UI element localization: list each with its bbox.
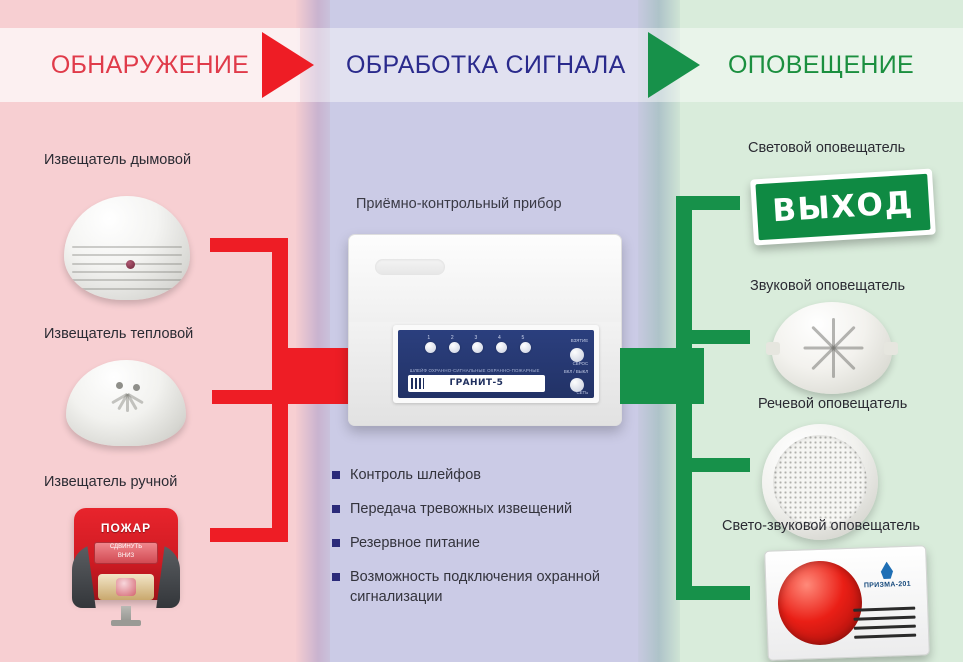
bullet-square-icon [332, 539, 340, 547]
infographic-canvas: ОБНАРУЖЕНИЕ ОБРАБОТКА СИГНАЛА ОПОВЕЩЕНИЕ… [0, 0, 963, 662]
control-panel-micro-text: ШЛЕЙФ ОХРАННО-СИГНАЛЬНЫЕ ОХРАННО-ПОЖАРНЫ… [410, 368, 543, 373]
water-drop-icon [879, 561, 896, 580]
connector-green-branch-light-sound [676, 586, 750, 600]
header-notification-label: ОПОВЕЩЕНИЕ [728, 51, 914, 80]
control-panel-brand-strip: ГРАНИТ-5 [408, 375, 545, 392]
feature-label: Контроль шлейфов [350, 466, 481, 485]
control-panel-led-3 [472, 342, 483, 353]
control-panel-knob-top-label: ВЗЯТИЕ [571, 338, 588, 343]
arrow-red-icon [262, 32, 314, 98]
connector-green-branch-light [676, 196, 740, 210]
feature-item: Передача тревожных извещений [332, 500, 632, 519]
bullet-square-icon [332, 505, 340, 513]
control-panel-knob-bottom-label: ВКЛ / ВЫКЛ [564, 369, 588, 374]
header-detection-label: ОБНАРУЖЕНИЕ [51, 51, 249, 80]
feature-label: Возможность подключения охранной сигнали… [350, 568, 632, 606]
control-panel-led-4 [496, 342, 507, 353]
control-panel-led-2 [449, 342, 460, 353]
light-annunciator-image: ВЫХОД [750, 169, 936, 246]
control-panel-image: 1 2 3 4 5 ШЛЕЙФ ОХРАННО-СИГНАЛЬНЫЕ ОХРАН… [348, 234, 622, 426]
feature-label: Передача тревожных извещений [350, 500, 572, 519]
control-panel-brand: ГРАНИТ-5 [450, 378, 504, 388]
smoke-detector-led-icon [126, 260, 135, 269]
control-panel-knob-top[interactable] [570, 348, 584, 362]
feature-label: Резервное питание [350, 534, 480, 553]
feature-item: Возможность подключения охранной сигнали… [332, 568, 632, 606]
manual-call-point-image: ПОЖАР СДВИНУТЬВНИЗ [74, 508, 178, 626]
control-panel-led-5 [520, 342, 531, 353]
connector-green-spine [676, 196, 692, 600]
annunciator-brand: ПРИЗМА-201 [858, 581, 916, 590]
smoke-detector-label: Извещатель дымовой [44, 152, 191, 168]
connector-green-branch-sound [676, 330, 750, 344]
manual-call-point-label: Извещатель ручной [44, 474, 177, 490]
annunciator-lens-icon [777, 560, 864, 647]
connector-red-arrow-to-panel [272, 348, 352, 404]
control-panel-title: Приёмно-контрольный прибор [356, 196, 562, 212]
bullet-square-icon [332, 573, 340, 581]
annunciator-logo: ПРИЗМА-201 [858, 561, 917, 590]
header-notification: ОПОВЕЩЕНИЕ [700, 28, 963, 102]
exit-sign-text: ВЫХОД [771, 185, 914, 230]
control-panel-led-1 [425, 342, 436, 353]
bullet-square-icon [332, 471, 340, 479]
heat-detector-label: Извещатель тепловой [44, 326, 193, 342]
control-panel-knob-bottom-sub: СЕТЬ [576, 390, 588, 395]
voice-annunciator-label: Речевой оповещатель [758, 396, 907, 412]
manual-call-point-device-text: ПОЖАР [74, 521, 178, 535]
manual-call-point-button[interactable] [116, 578, 136, 596]
feature-item: Резервное питание [332, 534, 632, 553]
feature-item: Контроль шлейфов [332, 466, 632, 485]
light-sound-annunciator-image: ПРИЗМА-201 [764, 545, 930, 661]
control-panel-faceplate: 1 2 3 4 5 ШЛЕЙФ ОХРАННО-СИГНАЛЬНЫЕ ОХРАН… [393, 325, 599, 403]
header-processing: ОБРАБОТКА СИГНАЛА [336, 28, 646, 102]
light-sound-annunciator-label: Свето-звуковой оповещатель [722, 518, 920, 534]
header-processing-label: ОБРАБОТКА СИГНАЛА [346, 51, 626, 80]
sound-annunciator-image [772, 302, 892, 394]
manual-call-point-instruction: СДВИНУТЬВНИЗ [94, 542, 158, 564]
annunciator-vents [853, 607, 916, 645]
connector-green-branch-voice [676, 458, 750, 472]
feature-list: Контроль шлейфов Передача тревожных изве… [332, 466, 632, 622]
control-panel-knob-top-sub: СБРОС [573, 361, 588, 366]
arrow-green-icon [648, 32, 700, 98]
header-detection: ОБНАРУЖЕНИЕ [0, 28, 300, 102]
light-annunciator-label: Световой оповещатель [748, 140, 905, 156]
sound-annunciator-label: Звуковой оповещатель [750, 278, 905, 294]
